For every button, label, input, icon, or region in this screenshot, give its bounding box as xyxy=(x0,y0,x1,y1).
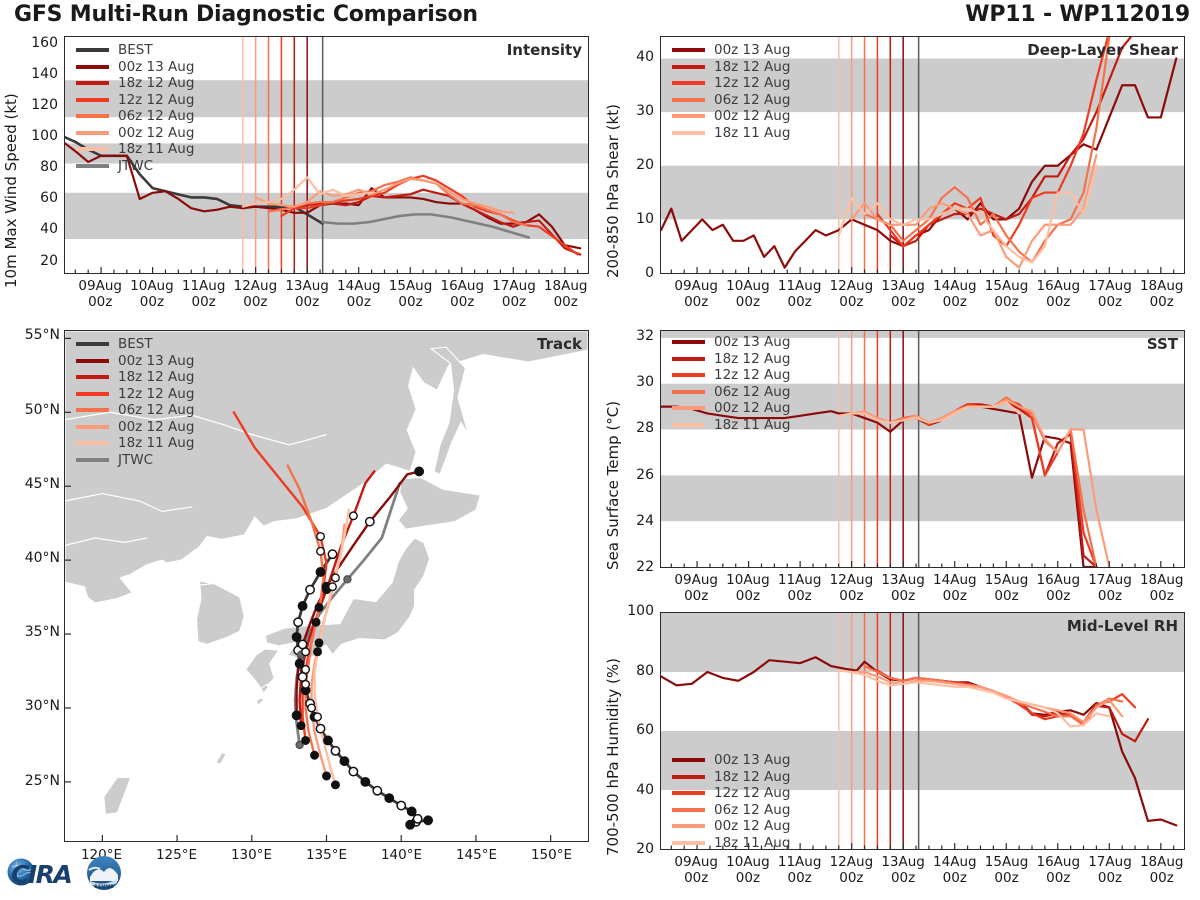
legend-color-swatch xyxy=(672,808,705,812)
legend-item: 00z 12 Aug xyxy=(672,108,790,125)
legend-label: 18z 11 Aug xyxy=(714,417,790,433)
legend-item: 06z 12 Aug xyxy=(672,384,790,401)
y-tick-label: 0 xyxy=(612,265,654,281)
y-tick-label: 40 xyxy=(612,49,654,65)
legend-item: 18z 12 Aug xyxy=(672,59,790,76)
y-tick-label: 30 xyxy=(612,374,654,390)
y-tick-label: 100 xyxy=(16,128,58,144)
track-marker-12z xyxy=(316,724,324,732)
legend-item: 18z 11 Aug xyxy=(672,417,790,434)
legend-item: JTWC xyxy=(76,452,194,469)
legend-color-swatch xyxy=(672,758,705,762)
legend-label: 06z 12 Aug xyxy=(714,384,790,400)
legend-color-swatch xyxy=(76,131,109,135)
y-tick-label: 100 xyxy=(612,603,654,619)
map-lon-label: 150°E xyxy=(516,848,588,864)
legend-color-swatch xyxy=(672,390,705,394)
legend-color-swatch xyxy=(76,48,109,52)
storm-id-title: WP11 - WP112019 xyxy=(965,2,1190,27)
legend-label: 18z 11 Aug xyxy=(714,125,790,141)
legend-label: 00z 13 Aug xyxy=(714,334,790,350)
y-tick-label: 28 xyxy=(612,420,654,436)
map-lat-label: 30°N xyxy=(6,698,60,714)
y-tick-label: 40 xyxy=(16,221,58,237)
legend-label: 18z 11 Aug xyxy=(118,141,194,157)
legend-item: 00z 13 Aug xyxy=(672,42,790,59)
track-marker xyxy=(314,648,322,656)
legend-label: 00z 13 Aug xyxy=(714,752,790,768)
shear-panel-label: Deep-Layer Shear xyxy=(1027,41,1178,59)
series-line xyxy=(839,671,1110,727)
y-tick-label: 120 xyxy=(16,97,58,113)
track-marker xyxy=(302,666,310,674)
track-marker-00z xyxy=(340,757,348,765)
legend-color-swatch xyxy=(76,458,109,462)
legend-color-swatch xyxy=(76,114,109,118)
legend-item: 18z 12 Aug xyxy=(672,351,790,368)
track-marker xyxy=(317,533,325,541)
legend-item: 12z 12 Aug xyxy=(672,367,790,384)
legend-label: 18z 12 Aug xyxy=(714,351,790,367)
x-tick-label: 18Aug00z xyxy=(1129,279,1195,311)
legend-color-swatch xyxy=(76,441,109,445)
legend-label: 12z 12 Aug xyxy=(118,92,194,108)
track-marker xyxy=(332,574,340,582)
y-tick-label: 20 xyxy=(612,157,654,173)
legend-label: JTWC xyxy=(118,452,153,468)
legend-label: 00z 12 Aug xyxy=(714,818,790,834)
y-tick-label: 80 xyxy=(16,159,58,175)
legend-item: 00z 13 Aug xyxy=(672,334,790,351)
legend-color-swatch xyxy=(672,81,705,85)
legend-color-swatch xyxy=(672,357,705,361)
rh-panel-label: Mid-Level RH xyxy=(1067,617,1178,635)
legend-label: 00z 13 Aug xyxy=(118,353,194,369)
x-tick-label: 18Aug00z xyxy=(1129,573,1195,605)
y-tick-label: 60 xyxy=(612,722,654,738)
track-marker-12z xyxy=(397,801,405,809)
track-marker xyxy=(315,639,323,647)
legend-label: 06z 12 Aug xyxy=(118,402,194,418)
track-marker-00z xyxy=(324,736,332,744)
track-marker xyxy=(317,547,325,555)
track-marker-00z xyxy=(424,816,432,824)
legend-label: BEST xyxy=(118,42,153,58)
track-marker-00z xyxy=(361,778,369,786)
legend-label: 06z 12 Aug xyxy=(118,108,194,124)
track-marker-00z xyxy=(292,711,300,719)
map-lon-label: 145°E xyxy=(441,848,513,864)
legend-item: 00z 13 Aug xyxy=(76,353,194,370)
legend-item: 00z 12 Aug xyxy=(76,125,194,142)
track-marker xyxy=(312,618,320,626)
track-marker-00z xyxy=(385,794,393,802)
legend-color-swatch xyxy=(672,65,705,69)
legend-label: 12z 12 Aug xyxy=(118,386,194,402)
track-marker-00z xyxy=(407,807,415,815)
legend-label: 00z 12 Aug xyxy=(714,400,790,416)
cira-logo: CIRA RAMMB xyxy=(4,848,128,894)
axis-ticks xyxy=(75,267,577,273)
legend-label: 06z 12 Aug xyxy=(714,92,790,108)
legend-label: 12z 12 Aug xyxy=(714,75,790,91)
track-marker xyxy=(302,681,310,689)
y-tick-label: 60 xyxy=(16,190,58,206)
legend-item: 06z 12 Aug xyxy=(76,108,194,125)
y-tick-label: 32 xyxy=(612,328,654,344)
axis-ticks xyxy=(671,267,1173,273)
legend-item: 12z 12 Aug xyxy=(76,386,194,403)
y-tick-label: 24 xyxy=(612,513,654,529)
legend-item: 18z 11 Aug xyxy=(76,141,194,158)
rh-legend: 00z 13 Aug18z 12 Aug12z 12 Aug06z 12 Aug… xyxy=(672,752,790,851)
legend-item: 12z 12 Aug xyxy=(672,785,790,802)
legend-color-swatch xyxy=(76,408,109,412)
track-panel-label: Track xyxy=(537,335,582,353)
legend-color-swatch xyxy=(76,147,109,151)
legend-item: 00z 12 Aug xyxy=(672,818,790,835)
legend-item: 06z 12 Aug xyxy=(76,402,194,419)
track-marker-00z xyxy=(406,821,414,829)
legend-item: 12z 12 Aug xyxy=(672,75,790,92)
map-lon-label: 140°E xyxy=(366,848,438,864)
legend-color-swatch xyxy=(76,98,109,102)
legend-item: 18z 12 Aug xyxy=(76,75,194,92)
track-marker-12z xyxy=(306,586,314,594)
legend-color-swatch xyxy=(672,131,705,135)
legend-item: 18z 12 Aug xyxy=(76,369,194,386)
legend-color-swatch xyxy=(76,164,109,168)
y-tick-label: 10 xyxy=(612,211,654,227)
legend-color-swatch xyxy=(76,342,109,346)
map-lon-label: 125°E xyxy=(141,848,213,864)
track-marker xyxy=(302,648,310,656)
sst-panel-label: SST xyxy=(1147,335,1178,353)
legend-item: 00z 13 Aug xyxy=(672,752,790,769)
track-marker xyxy=(329,583,337,591)
legend-label: 00z 13 Aug xyxy=(118,59,194,75)
legend-color-swatch xyxy=(76,65,109,69)
legend-item: 00z 12 Aug xyxy=(672,400,790,417)
intensity-band xyxy=(661,475,1184,521)
svg-text:CIRA: CIRA xyxy=(11,860,71,889)
legend-label: 12z 12 Aug xyxy=(714,367,790,383)
map-lon-label: 135°E xyxy=(291,848,363,864)
map-lat-label: 35°N xyxy=(6,624,60,640)
y-tick-label: 22 xyxy=(612,559,654,575)
intensity-legend: BEST00z 13 Aug18z 12 Aug12z 12 Aug06z 12… xyxy=(76,42,194,174)
svg-text:RAMMB: RAMMB xyxy=(94,884,114,890)
map-lon-label: 130°E xyxy=(216,848,288,864)
track-marker-12z xyxy=(331,747,339,755)
legend-item: 00z 12 Aug xyxy=(76,419,194,436)
y-tick-label: 20 xyxy=(612,841,654,857)
legend-item: BEST xyxy=(76,336,194,353)
legend-item: BEST xyxy=(76,42,194,59)
track-marker-12z xyxy=(366,518,374,526)
map-lat-label: 55°N xyxy=(6,327,60,343)
y-tick-label: 26 xyxy=(612,467,654,483)
track-marker xyxy=(311,751,319,759)
shear-y-axis-title: 200-850 hPa Shear (kt) xyxy=(604,104,622,278)
legend-label: 18z 11 Aug xyxy=(118,435,194,451)
legend-label: 06z 12 Aug xyxy=(714,802,790,818)
legend-item: 12z 12 Aug xyxy=(76,92,194,109)
map-lat-label: 25°N xyxy=(6,773,60,789)
legend-color-swatch xyxy=(672,114,705,118)
legend-item: 18z 11 Aug xyxy=(672,125,790,142)
track-legend: BEST00z 13 Aug18z 12 Aug12z 12 Aug06z 12… xyxy=(76,336,194,468)
legend-color-swatch xyxy=(672,841,705,845)
track-marker xyxy=(350,512,358,520)
track-marker-00z xyxy=(316,568,324,576)
intensity-panel-label: Intensity xyxy=(507,41,582,59)
legend-color-swatch xyxy=(76,392,109,396)
legend-item: 06z 12 Aug xyxy=(672,92,790,109)
legend-label: 18z 12 Aug xyxy=(118,75,194,91)
track-marker-12z xyxy=(413,815,421,823)
legend-color-swatch xyxy=(672,791,705,795)
track-marker-00z xyxy=(292,633,300,641)
track-marker-12z xyxy=(328,550,336,558)
shear-legend: 00z 13 Aug18z 12 Aug12z 12 Aug06z 12 Aug… xyxy=(672,42,790,141)
track-marker-00z xyxy=(415,467,423,475)
legend-item: 18z 11 Aug xyxy=(672,835,790,852)
legend-color-swatch xyxy=(76,81,109,85)
legend-color-swatch xyxy=(76,359,109,363)
track-marker xyxy=(297,722,305,730)
legend-item: JTWC xyxy=(76,158,194,175)
track-marker xyxy=(315,604,323,612)
legend-label: 18z 11 Aug xyxy=(714,835,790,851)
y-tick-label: 40 xyxy=(612,782,654,798)
legend-color-swatch xyxy=(672,48,705,52)
legend-color-swatch xyxy=(672,775,705,779)
rh-y-axis-title: 700-500 hPa Humidity (%) xyxy=(604,658,622,856)
legend-label: BEST xyxy=(118,336,153,352)
page-title: GFS Multi-Run Diagnostic Comparison xyxy=(14,2,478,27)
intensity-band xyxy=(661,166,1184,220)
legend-label: JTWC xyxy=(118,158,153,174)
track-marker xyxy=(314,713,322,721)
legend-item: 18z 12 Aug xyxy=(672,769,790,786)
legend-color-swatch xyxy=(672,373,705,377)
legend-label: 00z 12 Aug xyxy=(714,108,790,124)
x-tick-label: 18Aug00z xyxy=(1129,855,1195,887)
legend-label: 12z 12 Aug xyxy=(714,785,790,801)
legend-item: 06z 12 Aug xyxy=(672,802,790,819)
track-marker-12z xyxy=(373,787,381,795)
y-tick-label: 80 xyxy=(612,663,654,679)
legend-label: 00z 12 Aug xyxy=(118,125,194,141)
legend-color-swatch xyxy=(76,375,109,379)
y-tick-label: 30 xyxy=(612,103,654,119)
axis-ticks xyxy=(671,561,1173,567)
y-tick-label: 160 xyxy=(16,35,58,51)
legend-color-swatch xyxy=(672,824,705,828)
track-marker-12z xyxy=(294,618,302,626)
track-marker xyxy=(302,737,310,745)
track-marker-12z xyxy=(349,767,357,775)
legend-color-swatch xyxy=(76,425,109,429)
legend-label: 18z 12 Aug xyxy=(714,769,790,785)
legend-label: 00z 12 Aug xyxy=(118,419,194,435)
legend-label: 00z 13 Aug xyxy=(714,42,790,58)
map-lat-label: 45°N xyxy=(6,476,60,492)
legend-color-swatch xyxy=(672,98,705,102)
legend-label: 18z 12 Aug xyxy=(714,59,790,75)
track-marker xyxy=(308,704,316,712)
legend-color-swatch xyxy=(672,340,705,344)
legend-item: 18z 11 Aug xyxy=(76,435,194,452)
y-tick-label: 20 xyxy=(16,253,58,269)
y-tick-label: 140 xyxy=(16,66,58,82)
track-marker-00z xyxy=(298,602,306,610)
x-tick-label: 18Aug00z xyxy=(533,279,599,311)
track-marker xyxy=(323,772,331,780)
legend-color-swatch xyxy=(672,406,705,410)
legend-color-swatch xyxy=(672,423,705,427)
sst-legend: 00z 13 Aug18z 12 Aug12z 12 Aug06z 12 Aug… xyxy=(672,334,790,433)
map-lat-label: 50°N xyxy=(6,402,60,418)
jtwc-marker xyxy=(344,576,351,583)
track-marker xyxy=(332,781,340,789)
legend-label: 18z 12 Aug xyxy=(118,369,194,385)
map-lat-label: 40°N xyxy=(6,550,60,566)
legend-item: 00z 13 Aug xyxy=(76,59,194,76)
